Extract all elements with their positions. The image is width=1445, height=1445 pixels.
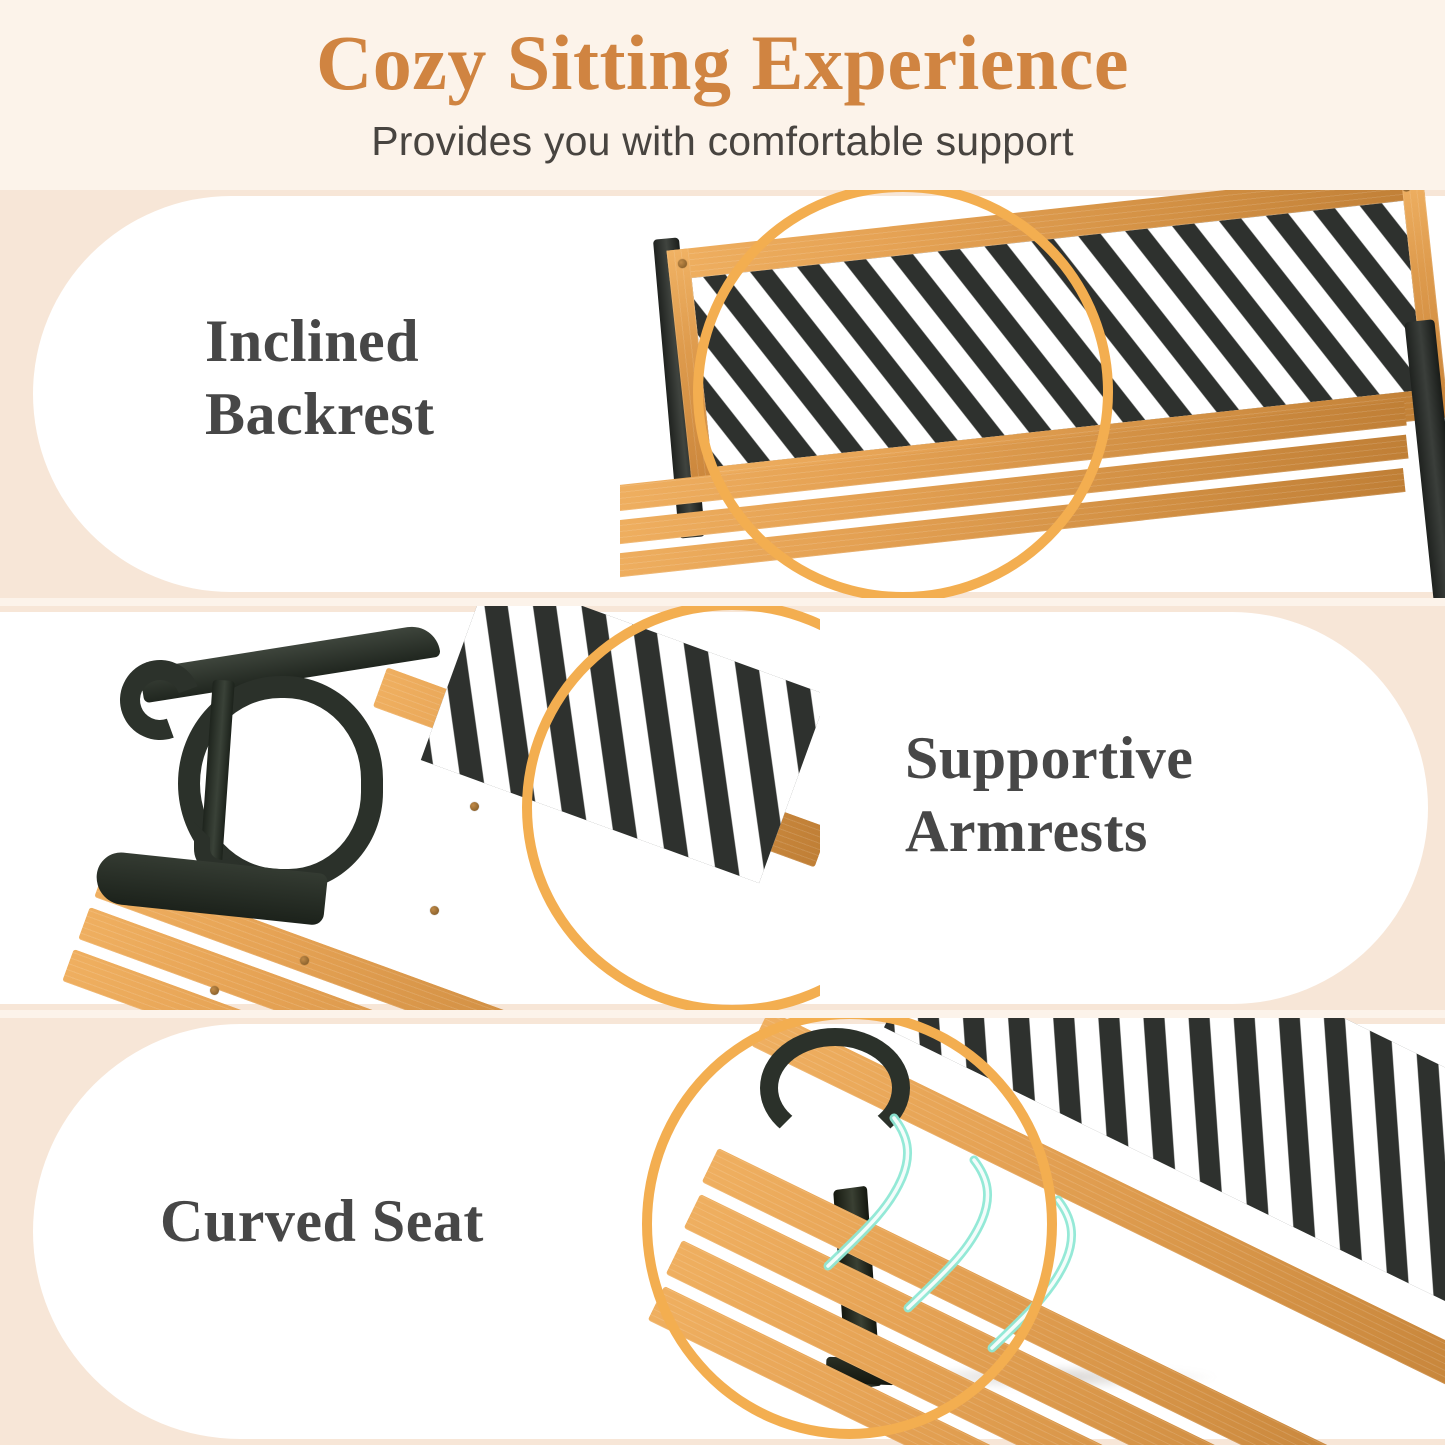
screw	[470, 802, 479, 811]
page-title: Cozy Sitting Experience	[0, 22, 1445, 103]
product-feature-infographic: Cozy Sitting Experience Provides you wit…	[0, 0, 1445, 1445]
feature-image-curved-seat	[610, 1018, 1445, 1445]
feature-label-supportive-armrests: Supportive Armrests	[905, 722, 1193, 868]
page-subtitle: Provides you with comfortable support	[0, 117, 1445, 166]
screw	[300, 956, 309, 965]
header: Cozy Sitting Experience Provides you wit…	[0, 0, 1445, 190]
screw	[430, 906, 439, 915]
feature-label-inclined-backrest: Inclined Backrest	[205, 305, 435, 451]
feature-label-curved-seat: Curved Seat	[160, 1185, 484, 1258]
feature-image-inclined-backrest	[620, 190, 1445, 598]
screw	[210, 986, 219, 995]
bench-armrest	[120, 646, 450, 936]
backrest-lattice-panel	[421, 606, 820, 883]
bench-armrest-fragment	[760, 1028, 910, 1148]
bench-diagonal-view	[640, 1018, 1445, 1445]
feature-image-supportive-armrests	[0, 606, 820, 1010]
